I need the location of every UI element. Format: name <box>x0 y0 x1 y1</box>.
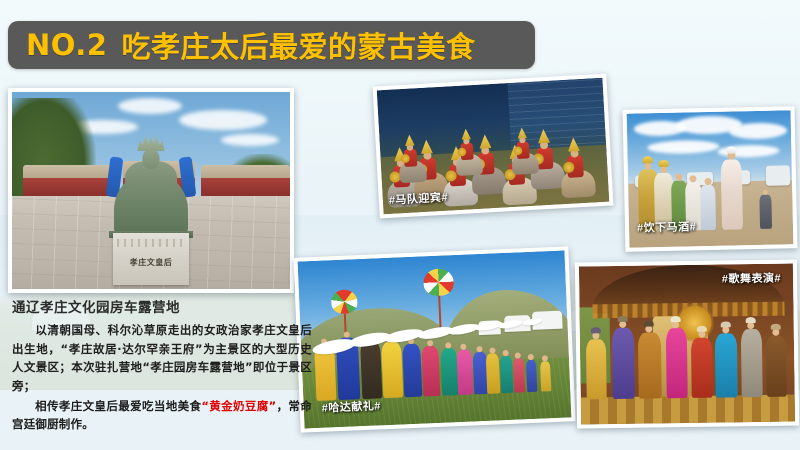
camp-site-heading: 通辽孝庄文化园房车露营地 <box>12 296 312 316</box>
description-paragraph-2: 相传孝庄文皇后最爱吃当地美食“黄金奶豆腐”，常命宫廷御厨制作。 <box>12 397 312 434</box>
paragraph-1-text: 以清朝国母、科尔沁草原走出的女政治家孝庄文皇后出生地，“孝庄故居·达尔罕亲王府”… <box>12 323 312 393</box>
slide-title-banner: NO.2 吃孝庄太后最爱的蒙古美食 <box>8 21 535 69</box>
pedestal-inscription: 孝庄文皇后 <box>113 257 189 268</box>
photo-caption-hada-ceremony: #哈达献礼# <box>321 397 381 415</box>
title-text: 吃孝庄太后最爱的蒙古美食 <box>121 24 475 66</box>
photo-caption-horse-parade: #马队迎宾# <box>388 189 448 208</box>
statue-pedestal: 孝庄文皇后 <box>113 233 189 285</box>
xiaozhuang-statue-photo: 孝庄文皇后 <box>8 88 294 293</box>
highlighted-food-name: “黄金奶豆腐” <box>201 399 276 413</box>
photo-caption-song-dance: #歌舞表演# <box>722 270 781 287</box>
description-paragraph-1: 以清朝国母、科尔沁草原走出的女政治家孝庄文皇后出生地，“孝庄故居·达尔罕亲王府”… <box>12 321 312 396</box>
hada-ceremony-photo: #哈达献礼# <box>293 246 575 432</box>
dismount-wine-photo: #饮下马酒# <box>623 106 798 252</box>
slide-canvas: NO.2 吃孝庄太后最爱的蒙古美食 <box>0 0 800 450</box>
song-dance-photo: #歌舞表演# <box>575 259 799 428</box>
photo-caption-dismount-wine: #饮下马酒# <box>637 218 697 235</box>
description-text-block: 通辽孝庄文化园房车露营地 以清朝国母、科尔沁草原走出的女政治家孝庄文皇后出生地，… <box>12 296 312 434</box>
paragraph-2-lead: 相传孝庄文皇后最爱吃当地美食 <box>35 399 201 413</box>
title-number: NO.2 <box>26 28 107 62</box>
horse-parade-photo: #马队迎宾# <box>372 74 613 219</box>
